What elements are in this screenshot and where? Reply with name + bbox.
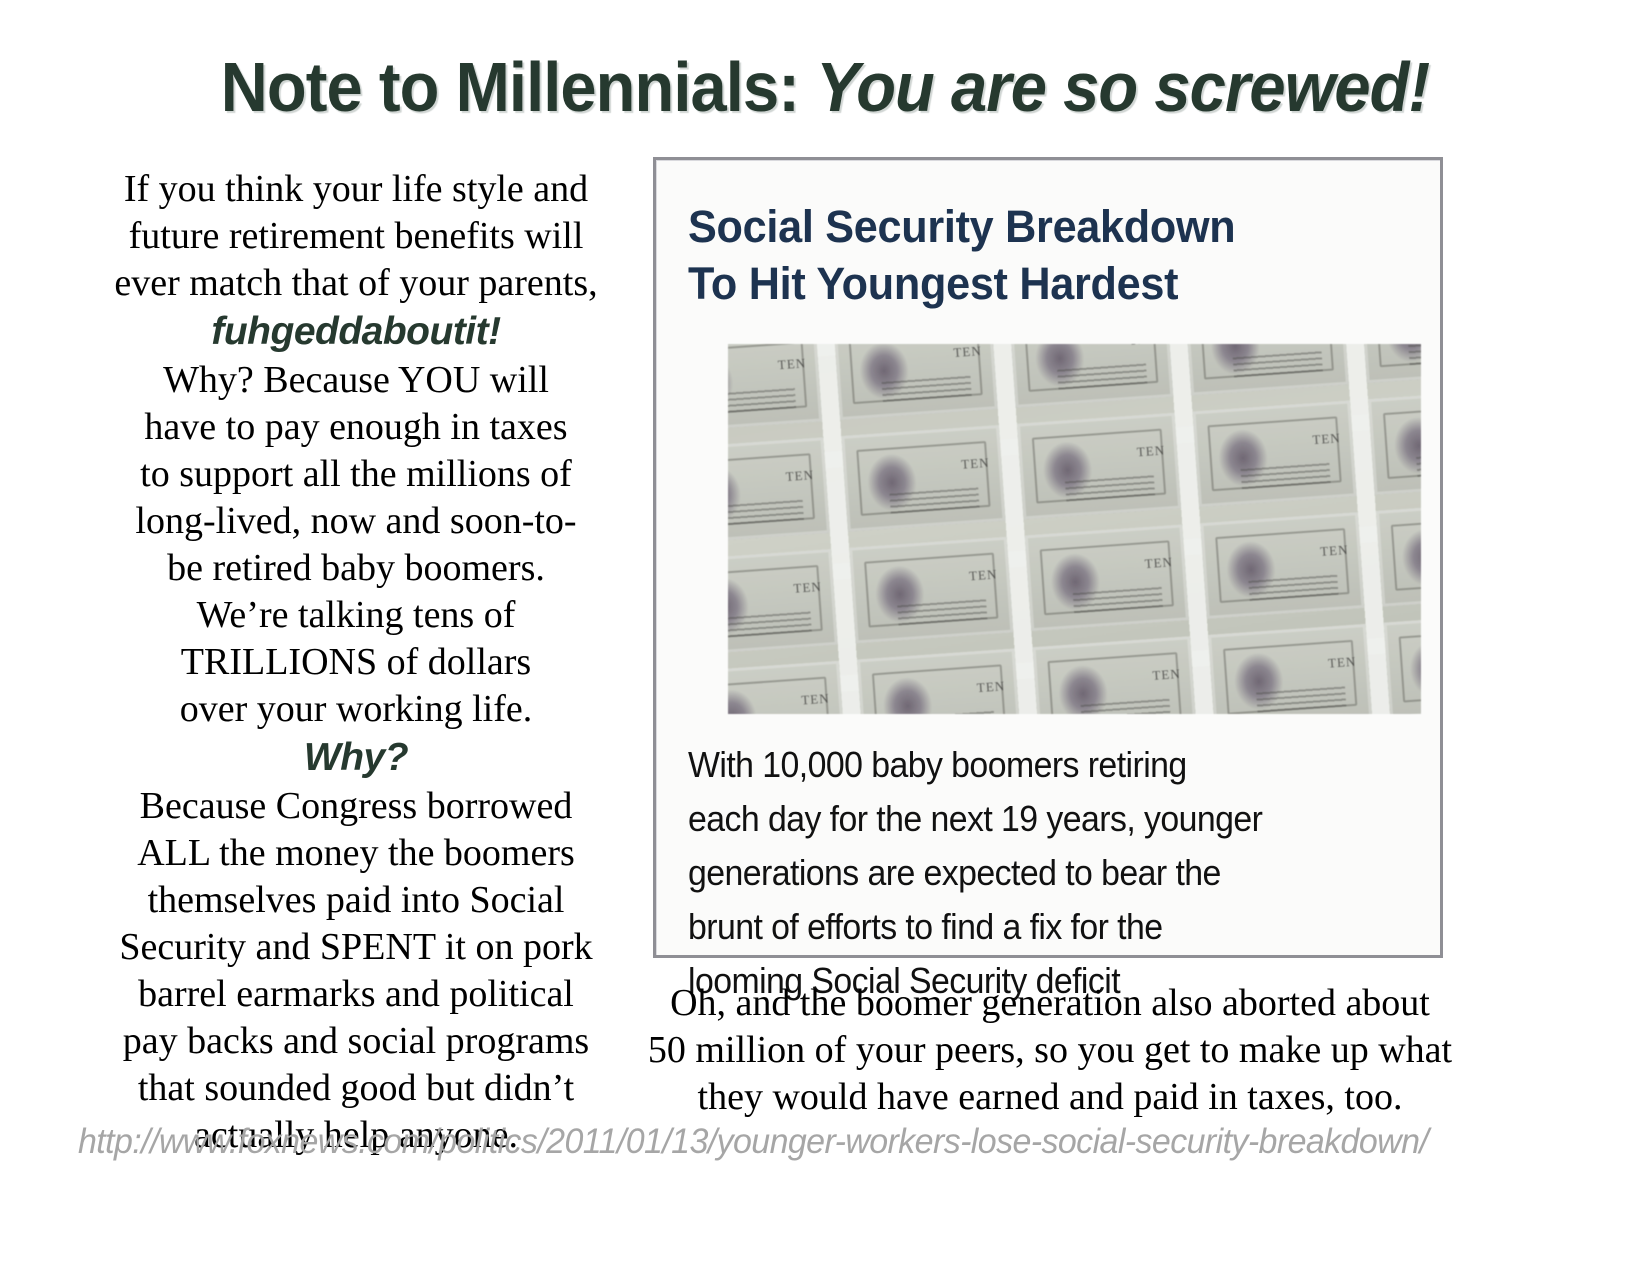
right-note-line-3: they would have earned and paid in taxes… xyxy=(622,1074,1478,1121)
left-line-3: ever match that of your parents, xyxy=(96,260,616,307)
page-title-plain: Note to Millennials: xyxy=(221,48,816,126)
left-line-4: Why? Because YOU will xyxy=(96,357,616,404)
ten-dollar-bill xyxy=(849,537,1013,644)
page-title: Note to Millennials: You are so screwed! xyxy=(58,52,1593,122)
left-line-8: be retired baby boomers. xyxy=(96,545,616,592)
accent-why: Why? xyxy=(96,733,616,783)
accent-fuhgeddaboutit: fuhgeddaboutit! xyxy=(96,307,616,357)
news-caption-line-3: generations are expected to bear the xyxy=(688,846,1384,900)
ten-dollar-bill xyxy=(1032,636,1196,714)
right-bottom-note: Oh, and the boomer generation also abort… xyxy=(622,980,1478,1121)
ten-dollar-bill xyxy=(841,425,1005,532)
ten-dollar-bill xyxy=(728,344,822,432)
left-line-9: We’re talking tens of xyxy=(96,592,616,639)
ten-dollar-bill xyxy=(1208,624,1372,714)
money-sheet-photo xyxy=(728,344,1421,714)
left-line-18: that sounded good but didn’t xyxy=(96,1065,616,1112)
left-line-13: ALL the money the boomers xyxy=(96,830,616,877)
ten-dollar-bill xyxy=(856,648,1020,714)
right-note-line-2: 50 million of your peers, so you get to … xyxy=(622,1027,1478,1074)
left-line-10: TRILLIONS of dollars xyxy=(96,639,616,686)
left-line-12: Because Congress borrowed xyxy=(96,783,616,830)
news-caption-line-1: With 10,000 baby boomers retiring xyxy=(688,738,1384,792)
left-line-6: to support all the millions of xyxy=(96,451,616,498)
ten-dollar-bill xyxy=(1184,344,1348,396)
ten-dollar-bill xyxy=(1375,500,1421,607)
left-line-15: Security and SPENT it on pork xyxy=(96,924,616,971)
left-line-14: themselves paid into Social xyxy=(96,877,616,924)
left-line-7: long-lived, now and soon-to- xyxy=(96,498,616,545)
ten-dollar-bill xyxy=(1024,524,1188,631)
news-clipping-panel: Social Security Breakdown To Hit Younges… xyxy=(653,157,1443,958)
right-note-line-1: Oh, and the boomer generation also abort… xyxy=(622,980,1478,1027)
news-headline-line-1: Social Security Breakdown xyxy=(688,198,1389,255)
ten-dollar-bill xyxy=(1016,413,1180,520)
ten-dollar-bill xyxy=(833,344,997,420)
ten-dollar-bill xyxy=(1368,388,1421,495)
news-headline: Social Security Breakdown To Hit Younges… xyxy=(688,198,1389,312)
left-line-1: If you think your life style and xyxy=(96,166,616,213)
left-line-17: pay backs and social programs xyxy=(96,1018,616,1065)
source-url[interactable]: http://www.foxnews.com/politics/2011/01/… xyxy=(78,1122,1552,1162)
ten-dollar-bill xyxy=(1360,344,1421,383)
ten-dollar-bill xyxy=(1192,400,1356,507)
page-title-emphasis: You are so screwed! xyxy=(816,48,1429,126)
left-line-16: barrel earmarks and political xyxy=(96,971,616,1018)
news-caption-line-2: each day for the next 19 years, younger xyxy=(688,792,1384,846)
ten-dollar-bill xyxy=(728,661,845,714)
ten-dollar-bill xyxy=(1383,612,1421,714)
ten-dollar-bill xyxy=(728,437,830,544)
left-line-2: future retirement benefits will xyxy=(96,213,616,260)
money-sheet-texture xyxy=(728,344,1421,714)
ten-dollar-bill xyxy=(1009,344,1173,408)
left-line-5: have to pay enough in taxes xyxy=(96,404,616,451)
news-caption-line-4: brunt of efforts to find a fix for the xyxy=(688,900,1384,954)
ten-dollar-bill xyxy=(728,549,837,656)
news-headline-line-2: To Hit Youngest Hardest xyxy=(688,255,1389,312)
news-caption: With 10,000 baby boomers retiring each d… xyxy=(688,738,1384,1008)
left-text-column: If you think your life style and future … xyxy=(96,166,616,1159)
left-line-11: over your working life. xyxy=(96,686,616,733)
ten-dollar-bill xyxy=(1200,512,1364,619)
